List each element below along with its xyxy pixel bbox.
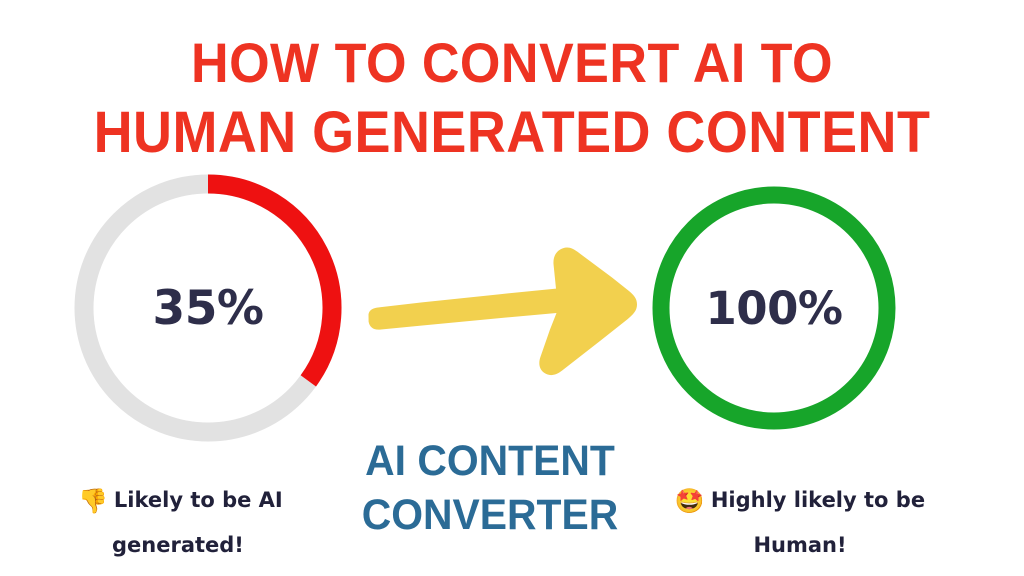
human-score-gauge: 100% xyxy=(652,186,896,430)
ai-score-gauge: 35% xyxy=(74,174,342,442)
infographic-canvas: HOW TO CONVERT AI TO HUMAN GENERATED CON… xyxy=(0,0,1024,576)
human-score-caption: 🤩Highly likely to be Human! xyxy=(660,478,940,567)
title-line-1: HOW TO CONVERT AI TO xyxy=(36,28,988,98)
caption-left-line-1: Likely to be AI xyxy=(114,488,283,512)
caption-right-line-1: Highly likely to be xyxy=(711,488,925,512)
arrow-shape xyxy=(369,247,638,375)
caption-left-row-1: 👎Likely to be AI xyxy=(78,478,348,523)
star-struck-face-icon: 🤩 xyxy=(675,487,705,515)
brand-name: AI CONTENT CONVERTER xyxy=(310,434,670,542)
conversion-arrow xyxy=(360,232,650,382)
title-line-2: HUMAN GENERATED CONTENT xyxy=(36,98,988,168)
caption-left-line-2: generated! xyxy=(78,523,348,567)
page-title: HOW TO CONVERT AI TO HUMAN GENERATED CON… xyxy=(0,28,1024,168)
caption-right-line-2: Human! xyxy=(660,523,940,567)
brand-line-2: CONVERTER xyxy=(319,488,661,542)
ai-score-value: 35% xyxy=(74,174,342,442)
caption-right-row-1: 🤩Highly likely to be xyxy=(660,478,940,523)
brand-line-1: AI CONTENT xyxy=(319,434,661,488)
human-score-value: 100% xyxy=(652,186,896,430)
ai-score-caption: 👎Likely to be AI generated! xyxy=(78,478,348,567)
thumbs-down-icon: 👎 xyxy=(78,487,108,515)
